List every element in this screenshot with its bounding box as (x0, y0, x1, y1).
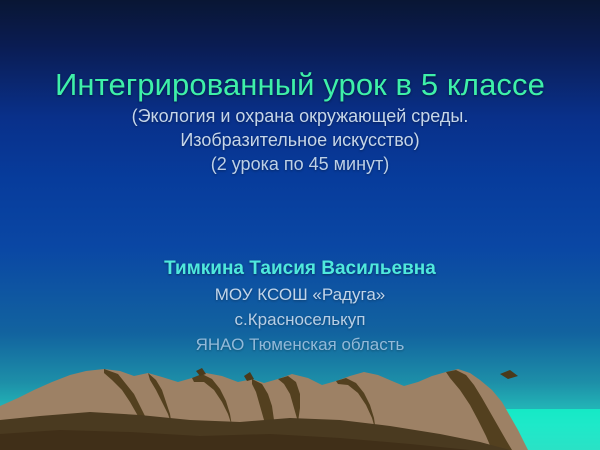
mountain-range-silhouette (0, 360, 600, 450)
title-text-block: Интегрированный урок в 5 классе (Экологи… (0, 66, 600, 176)
slide-subtitle-line-1: (Экология и охрана окружающей среды. (0, 104, 600, 128)
slide-title: Интегрированный урок в 5 классе (0, 66, 600, 104)
presentation-slide: Интегрированный урок в 5 классе (Экологи… (0, 0, 600, 450)
author-text-block: Тимкина Таисия Васильевна МОУ КСОШ «Раду… (0, 255, 600, 357)
author-region: ЯНАО Тюменская область (0, 332, 600, 357)
slide-subtitle-line-2: Изобразительное искусство) (0, 128, 600, 152)
slide-subtitle-line-3: (2 урока по 45 минут) (0, 152, 600, 176)
author-organization: МОУ КСОШ «Радуга» (0, 282, 600, 307)
author-name: Тимкина Таисия Васильевна (0, 255, 600, 282)
author-settlement: с.Красноселькуп (0, 307, 600, 332)
